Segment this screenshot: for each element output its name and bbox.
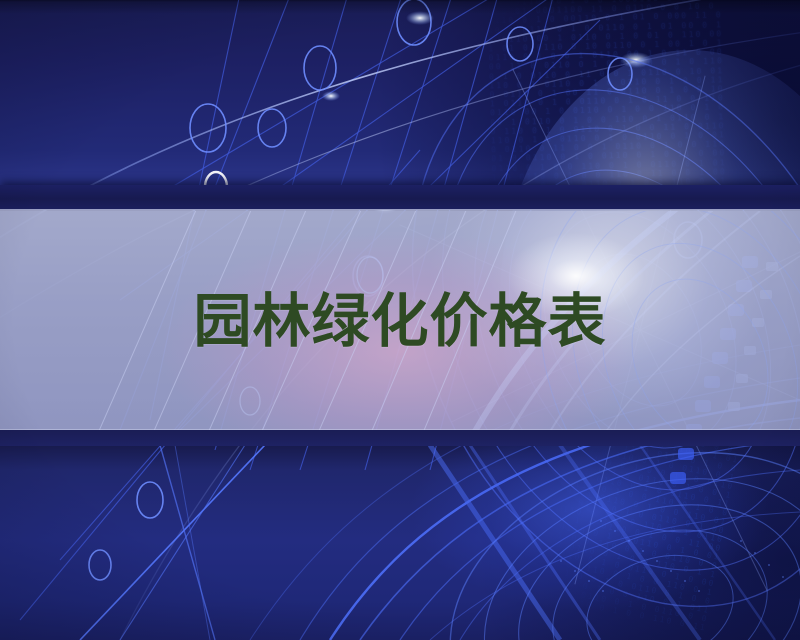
page-title: 园林绿化价格表: [193, 292, 606, 350]
band-top-strip: [0, 185, 800, 210]
slide-canvas: 0 1 0110 00 1 0 0 1000110 0 10 011 1 0 0…: [0, 0, 800, 640]
title-container: 园林绿化价格表: [0, 278, 800, 364]
band-bottom-strip: [0, 430, 800, 446]
